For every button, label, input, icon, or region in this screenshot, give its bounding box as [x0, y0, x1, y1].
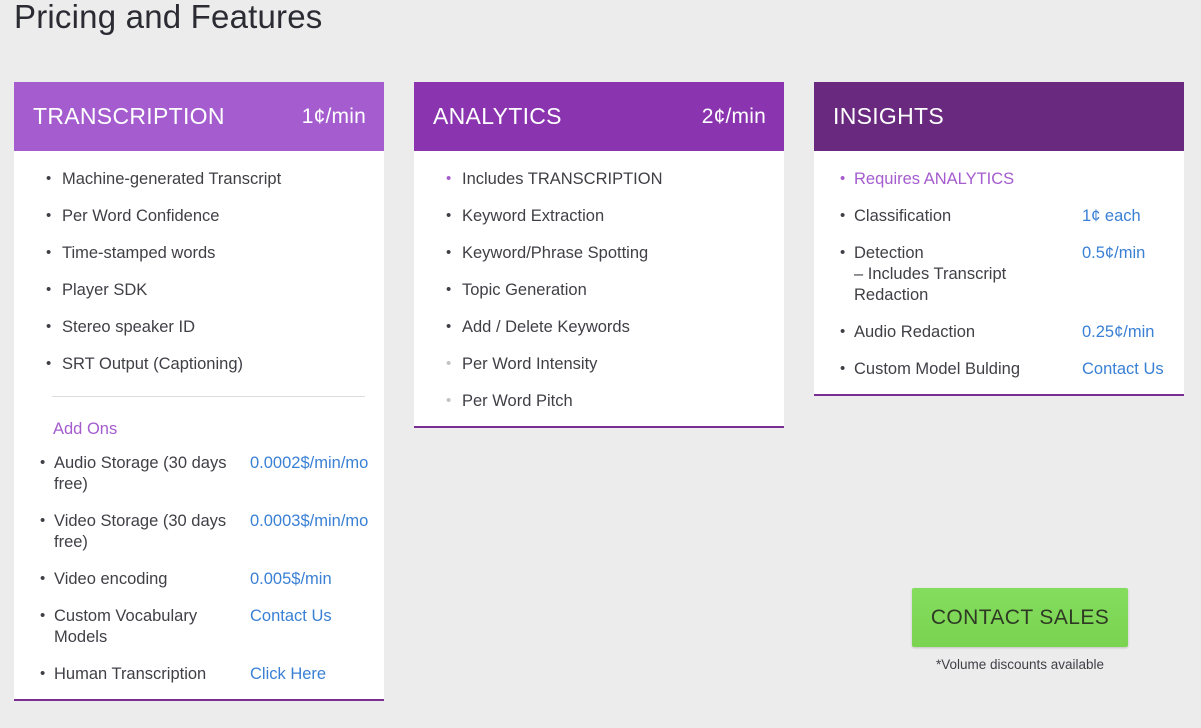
feature-label-sub: – Includes Transcript Redaction — [854, 264, 1082, 306]
feature-label-main: Detection — [854, 244, 924, 262]
feature-price: 0.5¢/min — [1082, 243, 1166, 264]
pricing-card-insights: INSIGHTS Requires ANALYTICS Classificati… — [814, 82, 1184, 396]
list-item: Keyword/Phrase Spotting — [432, 243, 766, 264]
list-item: Video Storage (30 days free) 0.0003$/min… — [32, 511, 366, 553]
feature-price: 1¢ each — [1082, 206, 1166, 227]
section-divider — [52, 396, 365, 397]
card-price: 1¢/min — [302, 105, 366, 129]
list-item: Audio Storage (30 days free) 0.0002$/min… — [32, 453, 366, 495]
list-item: Audio Redaction 0.25¢/min — [832, 322, 1166, 343]
list-item-disabled: Per Word Pitch — [432, 391, 766, 412]
card-body-transcription: Machine-generated Transcript Per Word Co… — [14, 151, 384, 699]
volume-discount-note: *Volume discounts available — [912, 657, 1128, 672]
card-body-analytics: Includes TRANSCRIPTION Keyword Extractio… — [414, 151, 784, 426]
feature-list-transcription: Machine-generated Transcript Per Word Co… — [32, 169, 366, 375]
pricing-card-transcription: TRANSCRIPTION 1¢/min Machine-generated T… — [14, 82, 384, 701]
list-item: Keyword Extraction — [432, 206, 766, 227]
list-item: Video encoding 0.005$/min — [32, 569, 366, 590]
addon-label: Custom Vocabulary Models — [32, 606, 250, 648]
card-header-transcription: TRANSCRIPTION 1¢/min — [14, 82, 384, 151]
feature-contact-us-link[interactable]: Contact Us — [1082, 359, 1166, 380]
addon-contact-us-link[interactable]: Contact Us — [250, 606, 366, 627]
list-item-includes-transcription[interactable]: Includes TRANSCRIPTION — [432, 169, 766, 190]
card-title: ANALYTICS — [433, 103, 562, 130]
addon-price[interactable]: 0.0003$/min/mo — [250, 511, 368, 532]
list-item: Stereo speaker ID — [32, 317, 366, 338]
feature-label: Detection – Includes Transcript Redactio… — [832, 243, 1082, 306]
list-item: Custom Vocabulary Models Contact Us — [32, 606, 366, 648]
feature-label: Audio Redaction — [832, 322, 1082, 343]
addon-price[interactable]: 0.0002$/min/mo — [250, 453, 368, 474]
list-item: Time-stamped words — [32, 243, 366, 264]
addon-label: Audio Storage (30 days free) — [32, 453, 250, 495]
list-item: Machine-generated Transcript — [32, 169, 366, 190]
list-item: Custom Model Bulding Contact Us — [832, 359, 1166, 380]
list-item: Topic Generation — [432, 280, 766, 301]
addon-label: Human Transcription — [32, 664, 250, 685]
feature-list-analytics: Includes TRANSCRIPTION Keyword Extractio… — [432, 169, 766, 412]
feature-label: Requires ANALYTICS — [832, 169, 1082, 190]
list-item: Detection – Includes Transcript Redactio… — [832, 243, 1166, 306]
contact-sales-button[interactable]: CONTACT SALES — [912, 588, 1128, 647]
card-header-analytics: ANALYTICS 2¢/min — [414, 82, 784, 151]
card-body-insights: Requires ANALYTICS Classification 1¢ eac… — [814, 151, 1184, 394]
list-item-disabled: Per Word Intensity — [432, 354, 766, 375]
feature-label: Custom Model Bulding — [832, 359, 1082, 380]
addons-heading: Add Ons — [53, 419, 366, 439]
list-item: Classification 1¢ each — [832, 206, 1166, 227]
card-title: TRANSCRIPTION — [33, 103, 225, 130]
feature-list-insights: Requires ANALYTICS Classification 1¢ eac… — [832, 169, 1166, 380]
list-item: Add / Delete Keywords — [432, 317, 766, 338]
addon-label: Video encoding — [32, 569, 250, 590]
page-title: Pricing and Features — [14, 0, 323, 38]
addon-click-here-link[interactable]: Click Here — [250, 664, 366, 685]
card-price: 2¢/min — [702, 105, 766, 129]
list-item: SRT Output (Captioning) — [32, 354, 366, 375]
pricing-card-analytics: ANALYTICS 2¢/min Includes TRANSCRIPTION … — [414, 82, 784, 428]
feature-price: 0.25¢/min — [1082, 322, 1166, 343]
addon-label: Video Storage (30 days free) — [32, 511, 250, 553]
addon-price[interactable]: 0.005$/min — [250, 569, 366, 590]
list-item: Human Transcription Click Here — [32, 664, 366, 685]
list-item: Player SDK — [32, 280, 366, 301]
card-title: INSIGHTS — [833, 103, 944, 130]
feature-label: Classification — [832, 206, 1082, 227]
list-item-requires-analytics: Requires ANALYTICS — [832, 169, 1166, 190]
card-header-insights: INSIGHTS — [814, 82, 1184, 151]
addon-list-transcription: Audio Storage (30 days free) 0.0002$/min… — [32, 453, 366, 685]
list-item: Per Word Confidence — [32, 206, 366, 227]
